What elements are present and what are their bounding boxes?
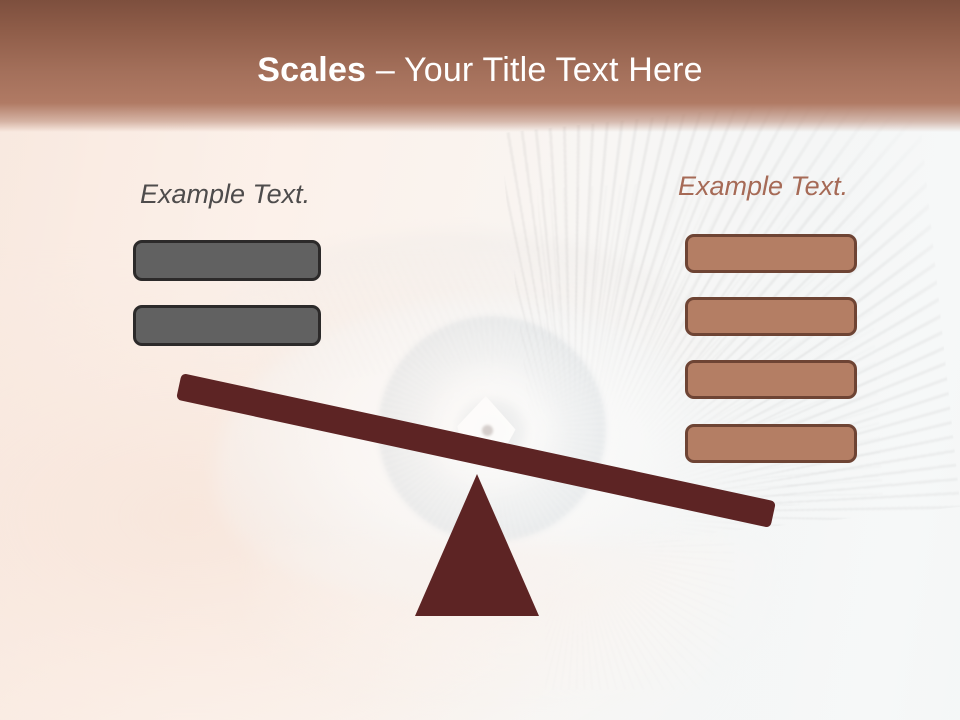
- left-weight-block-1[interactable]: [133, 240, 321, 281]
- page-title-rest: – Your Title Text Here: [366, 51, 703, 89]
- left-caption: Example Text.: [140, 178, 310, 210]
- page-title-bold: Scales: [257, 51, 366, 89]
- right-weight-block-1[interactable]: [685, 234, 857, 273]
- left-weight-block-2[interactable]: [133, 305, 321, 346]
- right-weight-block-4[interactable]: [685, 424, 857, 463]
- right-weight-block-2[interactable]: [685, 297, 857, 336]
- page-title: Scales – Your Title Text Here: [0, 48, 960, 92]
- slide-canvas: Scales – Your Title Text Here Example Te…: [0, 0, 960, 720]
- right-weight-block-3[interactable]: [685, 360, 857, 399]
- header-band: Scales – Your Title Text Here: [0, 0, 960, 132]
- right-caption: Example Text.: [678, 170, 848, 202]
